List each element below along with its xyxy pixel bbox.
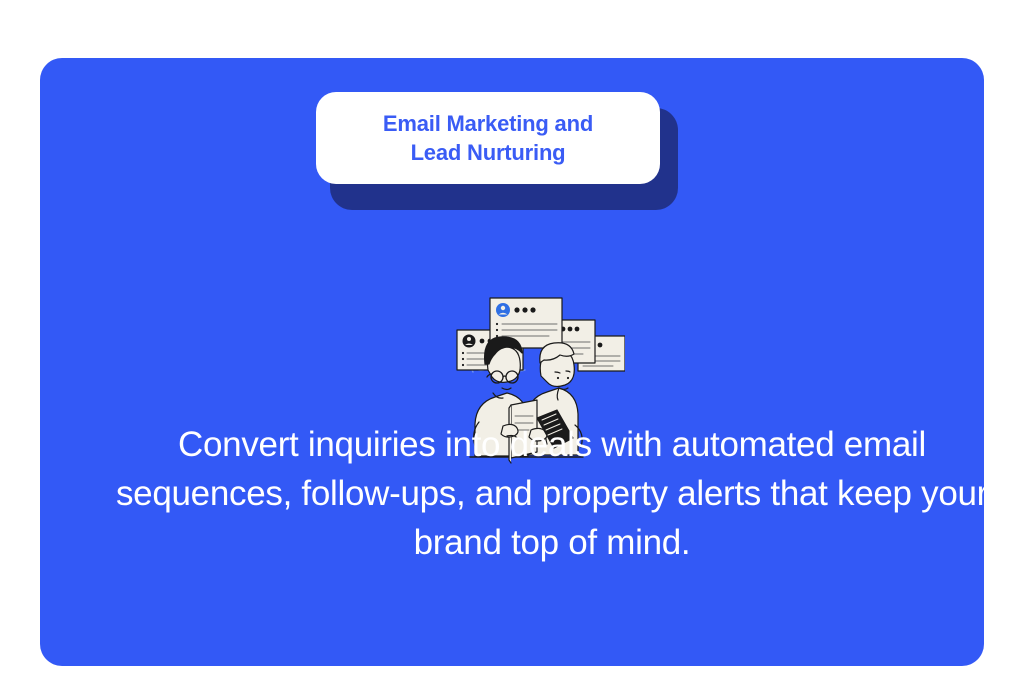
title-badge: Email Marketing and Lead Nurturing [316, 92, 678, 210]
card-title-line-1: Email Marketing and [383, 111, 593, 136]
title-badge-panel: Email Marketing and Lead Nurturing [316, 92, 660, 184]
card-title-line-2: Lead Nurturing [411, 140, 566, 165]
feature-card: Email Marketing and Lead Nurturing [40, 58, 984, 666]
card-body-text: Convert inquiries into deals with automa… [110, 420, 994, 567]
card-title: Email Marketing and Lead Nurturing [369, 109, 607, 167]
slide-canvas: Email Marketing and Lead Nurturing [0, 0, 1024, 691]
